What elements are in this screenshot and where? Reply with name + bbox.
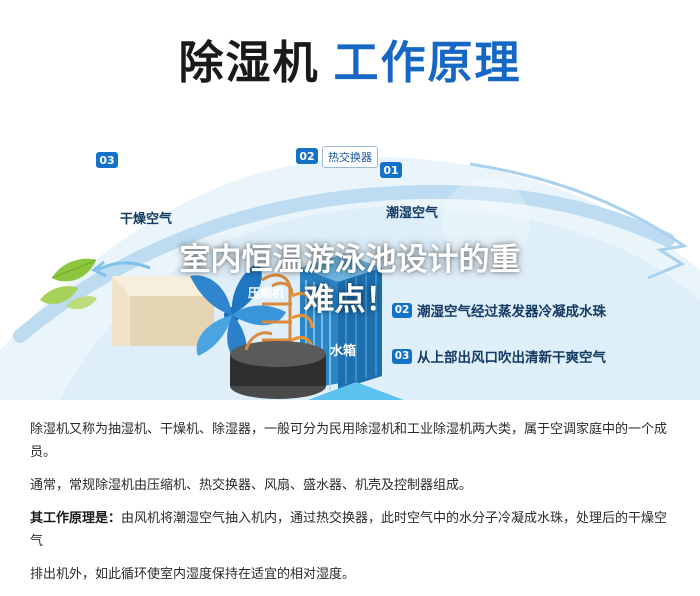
description-paragraph-3-text: 由风机将潮湿空气抽入机内，通过热交换器，此时空气中的水分子冷凝成水珠，处理后的干…: [30, 511, 667, 549]
description-paragraph-1: 除湿机又称为抽湿机、干燥机、除湿器，一般可分为民用除湿机和工业除湿机两大类，属于…: [30, 418, 670, 464]
label-dry-air: 干燥空气: [120, 208, 172, 227]
description-block: 除湿机又称为抽湿机、干燥机、除湿器，一般可分为民用除湿机和工业除湿机两大类，属于…: [30, 418, 670, 596]
bullet-2-number: 03: [392, 349, 412, 364]
bullet-line-2: 03 从上部出风口吹出清新干爽空气: [392, 346, 606, 366]
bullet-1-number: 02: [392, 303, 412, 318]
diagram-illustration: 03 干燥空气 02 热交换器 01 潮湿空气 压缩机 水箱 02 潮湿空气经过…: [0, 100, 700, 400]
description-paragraph-3: 其工作原理是：由风机将潮湿空气抽入机内，通过热交换器，此时空气中的水分子冷凝成水…: [30, 507, 670, 553]
title-part-1: 除湿机: [178, 36, 319, 89]
description-paragraph-4: 排出机外，如此循环使室内湿度保持在适宜的相对湿度。: [30, 563, 670, 586]
page-title: 除湿机工作原理: [0, 26, 700, 91]
label-humid-air: 潮湿空气: [386, 202, 438, 221]
description-lead: 其工作原理是：: [30, 511, 121, 526]
label-water-tank: 水箱: [330, 340, 356, 359]
badge-01: 01: [380, 162, 402, 178]
description-paragraph-2: 通常，常规除湿机由压缩机、热交换器、风扇、盛水器、机壳及控制器组成。: [30, 474, 670, 497]
infographic-page: 除湿机工作原理: [0, 0, 700, 566]
badge-03-left: 03: [96, 152, 118, 168]
bullet-line-1: 02 潮湿空气经过蒸发器冷凝成水珠: [392, 300, 606, 320]
badge-02: 02: [296, 148, 318, 164]
bullet-1-text: 潮湿空气经过蒸发器冷凝成水珠: [417, 300, 606, 320]
tag-heat-exchanger: 热交换器: [322, 146, 378, 168]
bullet-2-text: 从上部出风口吹出清新干爽空气: [417, 346, 606, 366]
label-compressor: 压缩机: [248, 284, 284, 301]
title-part-2: 工作原理: [334, 36, 522, 89]
